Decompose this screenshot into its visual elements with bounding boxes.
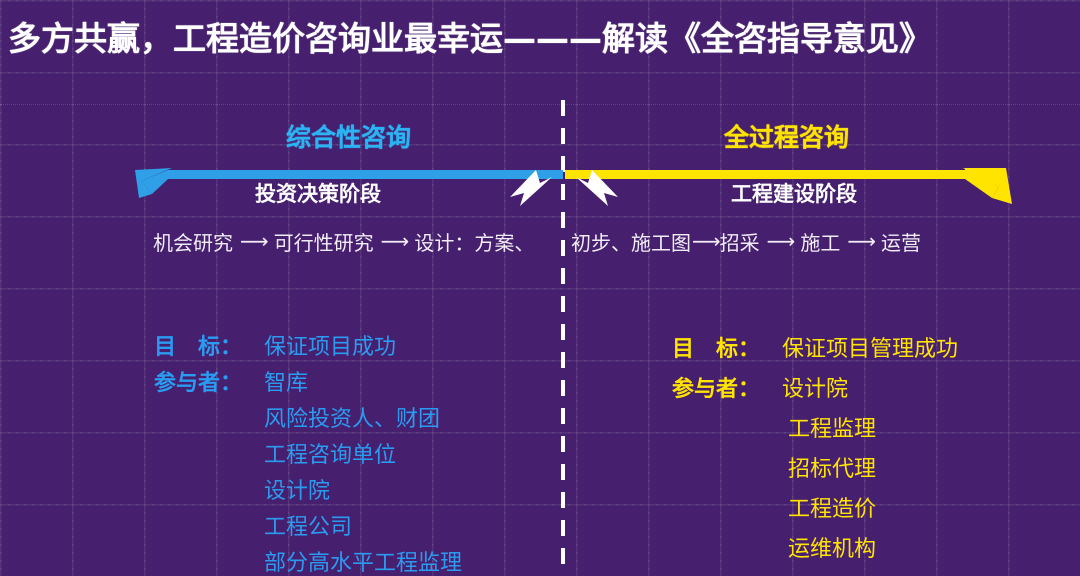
- arrow-right-icon: ⟶: [767, 229, 794, 253]
- chain-node: 设计：方案、: [413, 227, 535, 256]
- slide-root: 多方共赢，工程造价咨询业最幸运———解读《全咨指导意见》 综合性咨询 全过程咨询: [0, 0, 1080, 576]
- slide-title-bar: 多方共赢，工程造价咨询业最幸运———解读《全咨指导意见》: [0, 0, 1080, 72]
- right-goal-row: 目 标： 保证项目管理成功: [672, 330, 958, 370]
- chain-node: 机会研究: [152, 227, 234, 256]
- left-goal-value: 保证项目成功: [258, 330, 396, 366]
- arrow-right-icon: ⟶: [692, 229, 719, 253]
- left-participants-list: 风险投资人、财团 工程咨询单位 设计院 工程公司 部分高水平工程监理 造价咨询机…: [154, 402, 462, 576]
- left-phase-label: 投资决策阶段: [255, 178, 381, 208]
- right-section-heading: 全过程咨询: [724, 118, 849, 154]
- right-participant-item: 招标代理: [788, 450, 958, 490]
- left-goal-label: 目 标：: [154, 330, 258, 366]
- left-detail-block: 目 标： 保证项目成功 参与者： 智库 风险投资人、财团 工程咨询单位 设计院 …: [154, 330, 462, 576]
- right-participant-item: 设计院: [776, 370, 848, 410]
- left-participant-item: 工程咨询单位: [264, 438, 462, 474]
- arrow-right-icon: ⟶: [381, 229, 408, 253]
- chain-node: 招采: [719, 227, 761, 256]
- left-participant-item: 智库: [258, 366, 308, 402]
- right-goal-value: 保证项目管理成功: [776, 330, 958, 370]
- right-participant-item: 运维机构: [788, 530, 958, 570]
- arrow-right-icon: ⟶: [240, 229, 267, 253]
- chain-node: 运营: [880, 227, 922, 256]
- left-participant-item: 工程公司: [264, 510, 462, 546]
- right-participants-label: 参与者：: [672, 370, 776, 410]
- left-participants-label: 参与者：: [154, 366, 258, 402]
- right-detail-block: 目 标： 保证项目管理成功 参与者： 设计院 工程监理 招标代理 工程造价 运维…: [672, 330, 958, 570]
- title-divider-rule: [0, 104, 1080, 105]
- right-process-chain: 初步、施工图 ⟶ 招采 ⟶ 施工 ⟶ 运营: [570, 224, 922, 258]
- left-participant-item: 部分高水平工程监理: [264, 546, 462, 576]
- page-title: 多方共赢，工程造价咨询业最幸运———解读《全咨指导意见》: [0, 12, 932, 60]
- right-goal-label: 目 标：: [672, 330, 776, 370]
- chain-node: 初步、施工图: [570, 227, 692, 256]
- right-participant-item: 工程监理: [788, 410, 958, 450]
- left-goal-row: 目 标： 保证项目成功: [154, 330, 462, 366]
- arrow-right-icon: ⟶: [847, 229, 874, 253]
- right-participants-list: 工程监理 招标代理 工程造价 运维机构: [672, 410, 958, 570]
- phase-arrow-band: [0, 150, 1080, 220]
- chain-node: 可行性研究: [273, 227, 375, 256]
- left-participant-item: 设计院: [264, 474, 462, 510]
- left-participant-item: 风险投资人、财团: [264, 402, 462, 438]
- left-section-heading: 综合性咨询: [286, 118, 411, 154]
- left-process-chain: 机会研究 ⟶ 可行性研究 ⟶ 设计：方案、: [152, 224, 535, 258]
- chain-node: 施工: [799, 227, 841, 256]
- left-participants-row: 参与者： 智库: [154, 366, 462, 402]
- right-participants-row: 参与者： 设计院: [672, 370, 958, 410]
- right-phase-label: 工程建设阶段: [731, 178, 857, 208]
- right-participant-item: 工程造价: [788, 490, 958, 530]
